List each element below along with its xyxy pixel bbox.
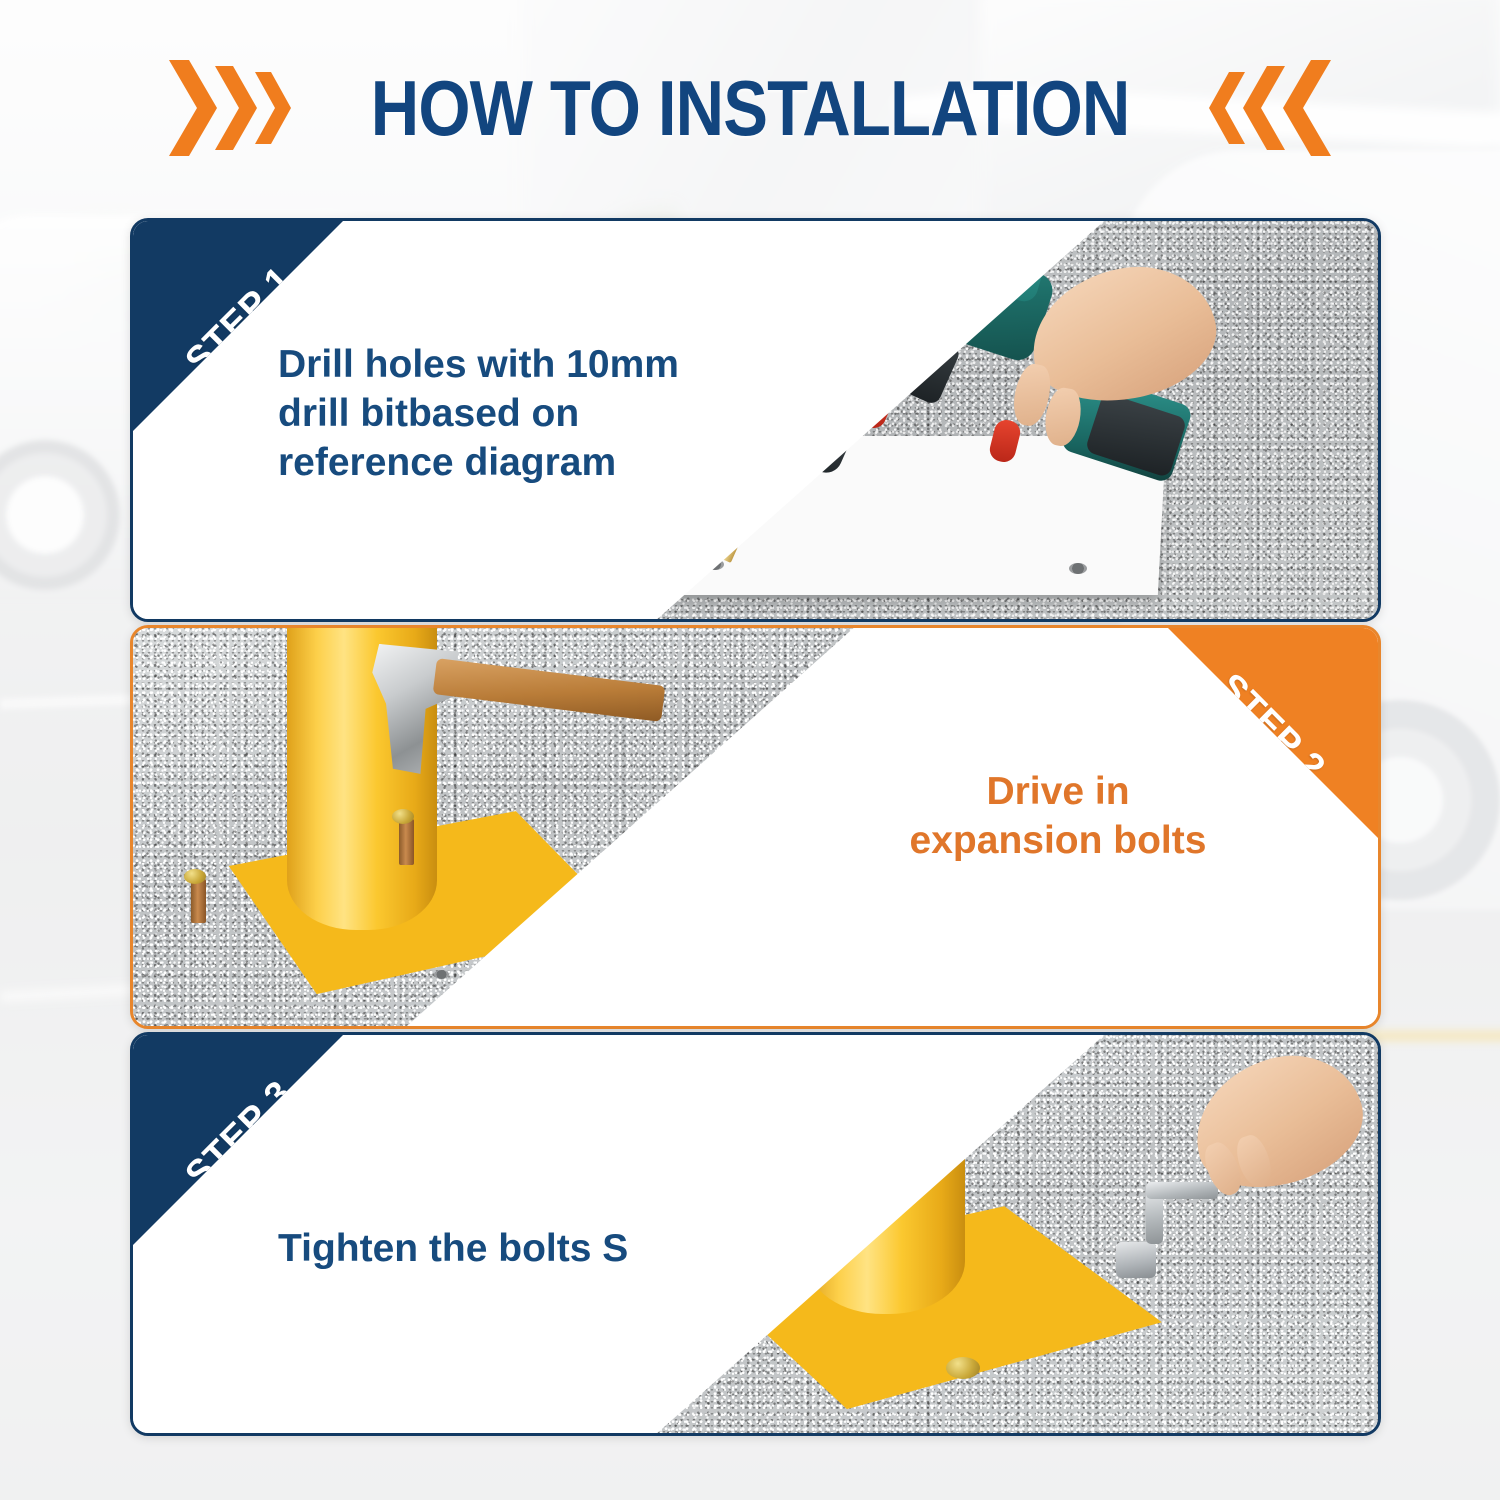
step-card-1: STEP 1 Drill holes with 10mm drill bitba… [130, 218, 1381, 622]
l-wrench-horizontal-arm [1146, 1182, 1218, 1199]
page-header: HOW TO INSTALLATION [0, 48, 1500, 168]
expansion-bolt-head [184, 869, 206, 884]
chevrons-left-icon [1207, 56, 1333, 160]
step-3-description: Tighten the bolts S [278, 1225, 628, 1274]
step-card-3: STEP 3 Tighten the bolts S [130, 1032, 1381, 1436]
expansion-bolt [399, 819, 414, 865]
chevrons-right-icon [167, 56, 293, 160]
infographic-canvas: HOW TO INSTALLATION [0, 0, 1500, 1500]
expansion-bolt [191, 879, 206, 923]
page-title: HOW TO INSTALLATION [371, 63, 1130, 154]
step-2-description: Drive in expansion bolts [828, 768, 1288, 866]
step-card-2: STEP 2 Drive in expansion bolts [130, 625, 1381, 1029]
step-1-description: Drill holes with 10mm drill bitbased on … [278, 341, 679, 487]
wrench-socket [1116, 1242, 1156, 1278]
